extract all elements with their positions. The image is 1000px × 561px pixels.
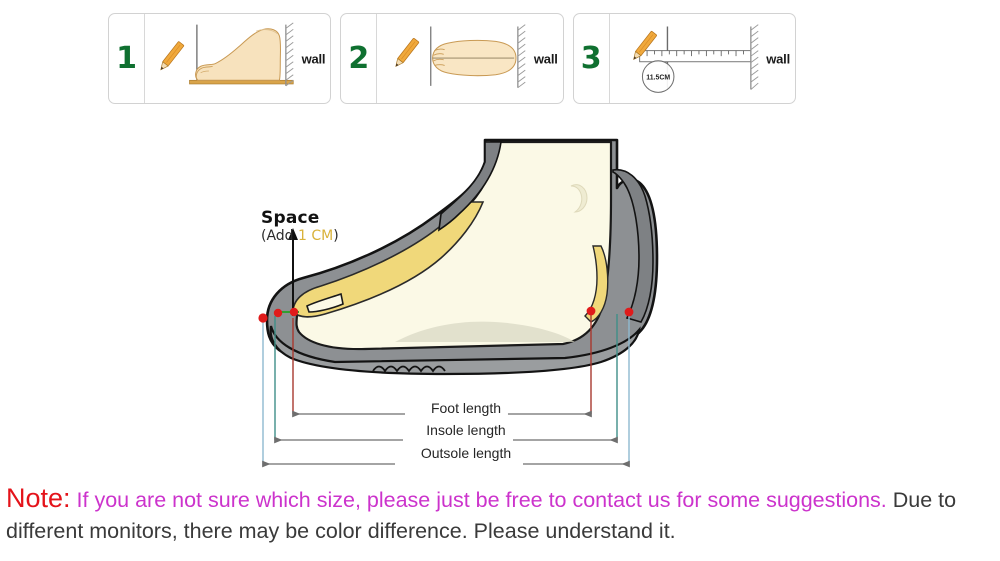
space-sub-value: 1 CM — [298, 228, 333, 244]
wall-label-1: wall — [302, 51, 326, 66]
magnifier-reading-text: 11.5CM — [646, 74, 670, 81]
ruler-measure-icon: 11.5CM wall — [610, 14, 795, 103]
space-sub-suffix: ) — [333, 228, 338, 244]
foot-side-view-measure-icon: wall — [145, 14, 330, 103]
space-title: Space — [261, 210, 411, 228]
note-paragraph: Note: If you are not sure which size, pl… — [6, 483, 996, 547]
step-panel-1: 1 — [108, 13, 331, 104]
step-number-2: 2 — [348, 44, 369, 74]
note-keyword: Note: — [6, 483, 71, 513]
wall-label-2: wall — [534, 51, 558, 66]
step-panel-3: 3 — [573, 13, 796, 104]
step-number-1: 1 — [116, 44, 137, 74]
insole-length-label: Insole length — [419, 422, 512, 438]
space-annotation: Space (Add 1 CM) — [261, 210, 411, 244]
shoe-cross-section-diagram — [245, 128, 695, 468]
step-number-cell-1: 1 — [109, 14, 145, 103]
step-number-3: 3 — [581, 44, 602, 74]
foot-length-label: Foot length — [424, 400, 508, 416]
outsole-length-label: Outsole length — [414, 445, 518, 461]
step-number-cell-3: 3 — [574, 14, 610, 103]
step-number-cell-2: 2 — [341, 14, 377, 103]
space-sub-prefix: (Add — [261, 228, 298, 244]
foot-top-view-measure-icon: wall — [377, 14, 562, 103]
step-panel-2: 2 — [340, 13, 563, 104]
note-magenta-text: If you are not sure which size, please j… — [71, 488, 887, 512]
wall-label-3: wall — [766, 51, 790, 66]
measuring-steps-row: 1 — [108, 13, 796, 104]
space-subtitle: (Add 1 CM) — [261, 229, 411, 244]
